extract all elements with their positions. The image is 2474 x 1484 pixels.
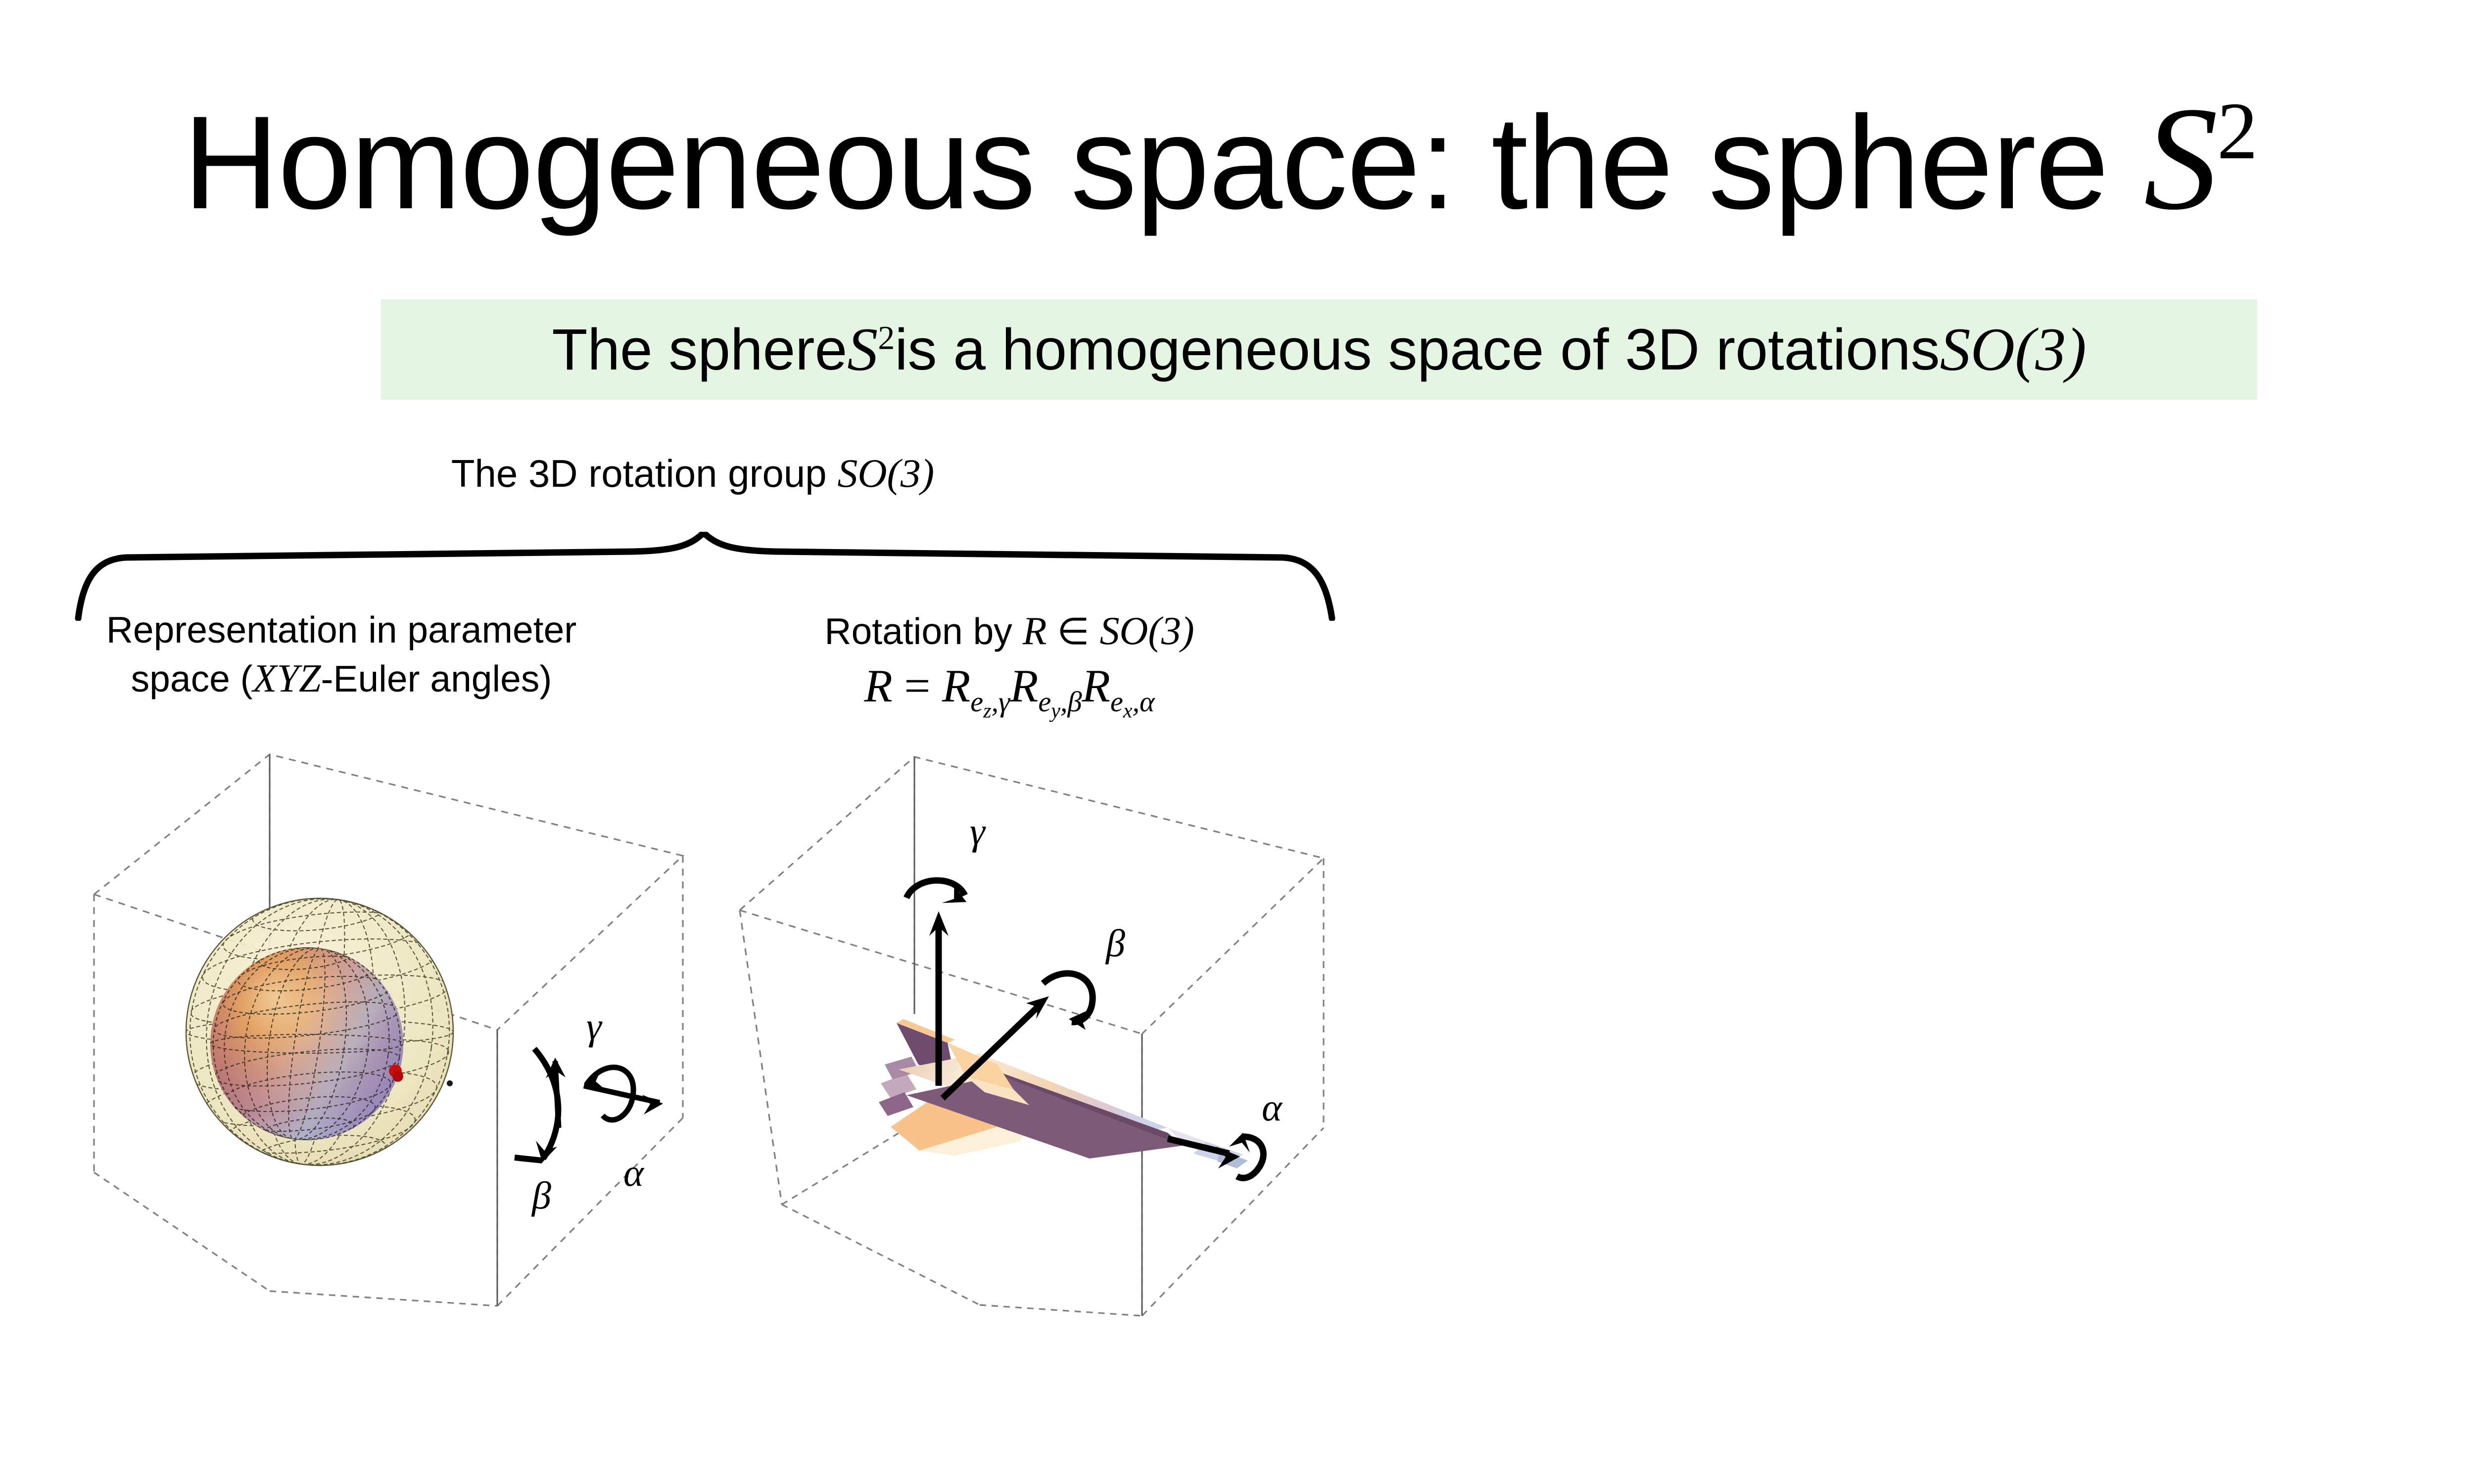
beta-label-left: β: [532, 1176, 551, 1215]
right-column-caption: Rotation by R ∈ SO(3) R = Rez,γRey,βRex,…: [747, 606, 1272, 725]
R-symbol: R: [1023, 609, 1047, 653]
page-title-symbol: S2: [2144, 76, 2257, 240]
highlight-sphere-symbol: S2: [847, 315, 895, 385]
reference-point: [447, 1080, 453, 1086]
highlight-so-symbol: SO: [1940, 315, 2015, 385]
left-column-caption: Representation in parameter space (XYZ-E…: [30, 606, 653, 704]
beta-label-right: β: [1106, 924, 1125, 963]
highlight-part-1: The sphere: [552, 316, 847, 383]
group-caption-suffix: (3): [887, 451, 935, 496]
rotation-formula: R = Rez,γRey,βRex,α: [747, 656, 1272, 725]
so3-symbol: SO: [1100, 609, 1148, 653]
highlight-part-2: is a homogeneous space of 3D rotations: [895, 316, 1940, 383]
left-caption-line-2: space (XYZ-Euler angles): [30, 653, 653, 704]
page-title-exponent: 2: [2217, 86, 2257, 176]
group-caption-symbol: SO: [837, 451, 887, 496]
box-inner-axes: [914, 757, 1142, 1316]
page-title-text: Homogeneous space: the sphere: [183, 88, 2144, 236]
beta-rotation-arc: [1043, 974, 1093, 1022]
highlight-so-args: (3): [2015, 315, 2087, 385]
group-caption-text: The 3D rotation group: [451, 452, 837, 495]
left-caption-line-1: Representation in parameter: [30, 606, 653, 653]
alpha-label-left: α: [623, 1154, 644, 1192]
page-title: Homogeneous space: the sphere S2: [183, 84, 2459, 232]
xyz-symbol: XYZ: [253, 657, 321, 700]
figure-parameter-space: γ β α: [89, 737, 747, 1326]
gamma-label-left: γ: [586, 1007, 602, 1046]
right-caption-line-1: Rotation by R ∈ SO(3): [747, 606, 1272, 656]
slide-canvas: Homogeneous space: the sphere S2 The sph…: [0, 0, 2474, 1484]
gamma-label-right: γ: [970, 812, 985, 851]
figure-rotation-by-R: γ β α: [722, 737, 1380, 1326]
bounding-box-wireframe: [740, 757, 1324, 1316]
shuttle-in-box-plot: [722, 737, 1380, 1326]
rotation-axes: [515, 1049, 663, 1162]
sphere-in-box-plot: [89, 737, 747, 1326]
group-caption: The 3D rotation group SO(3): [0, 450, 1385, 497]
alpha-label-right: α: [1262, 1088, 1282, 1127]
highlight-statement: The sphere S2 is a homogeneous space of …: [381, 299, 2257, 400]
highlight-band: The sphere S2 is a homogeneous space of …: [381, 299, 2257, 400]
